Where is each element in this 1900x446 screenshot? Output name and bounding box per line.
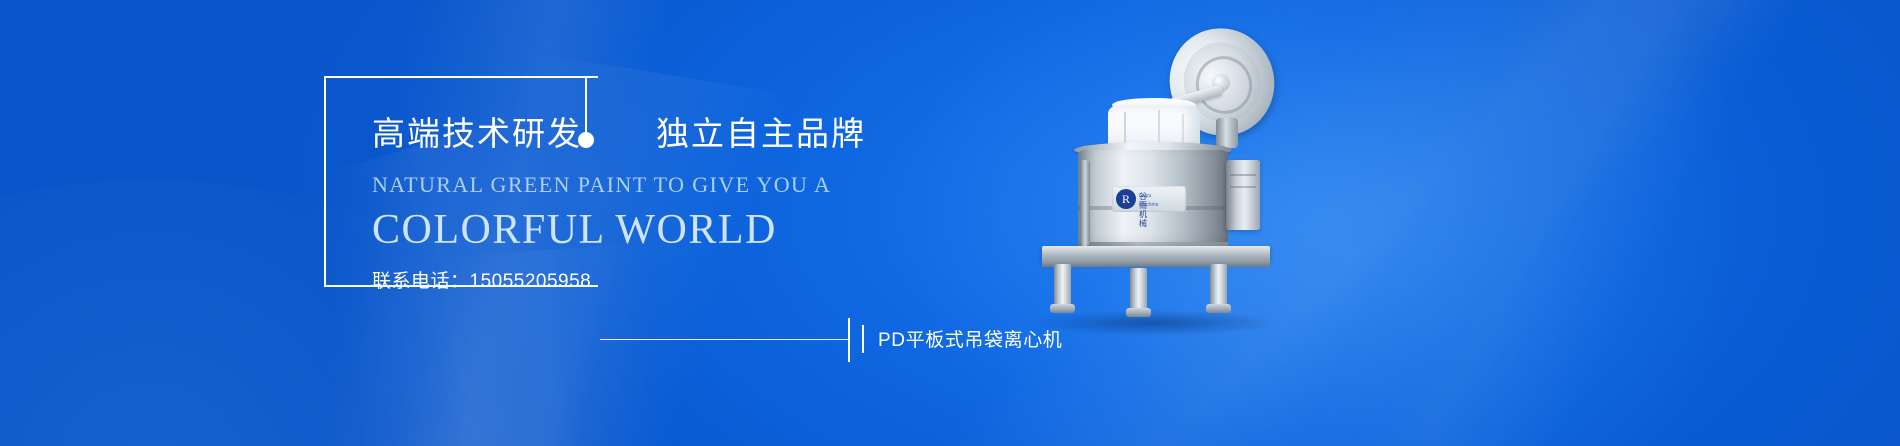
hero-banner: 高端技术研发独立自主品牌 NATURAL GREEN PAINT TO GIVE…	[0, 0, 1900, 446]
background-glow	[880, 0, 1780, 446]
subtitle-line-1: NATURAL GREEN PAINT TO GIVE YOU A	[372, 172, 892, 198]
machine-control-box	[1226, 160, 1260, 230]
machine-control-line-2	[1230, 186, 1256, 188]
caption-rule	[600, 339, 850, 340]
caption-tick-long	[848, 318, 850, 362]
contact-phone: 联系电话：15055205958	[372, 266, 892, 293]
machine-base-plate-front	[1042, 260, 1270, 267]
bracket-frame-top-arm	[324, 76, 586, 78]
machine-foot-3	[1210, 264, 1227, 308]
machine-logo-mark: R	[1116, 189, 1136, 209]
machine-control-line-1	[1230, 174, 1256, 176]
hero-text-block: 高端技术研发独立自主品牌 NATURAL GREEN PAINT TO GIVE…	[372, 112, 892, 293]
headline: 高端技术研发独立自主品牌	[372, 112, 892, 156]
caption-tick-short	[862, 325, 864, 353]
machine-shadow	[1030, 310, 1280, 336]
machine-foot-1	[1054, 264, 1071, 308]
subtitle-line-2: COLORFUL WORLD	[372, 206, 892, 254]
machine-pipe	[1080, 160, 1090, 246]
machine-hinge	[1216, 118, 1238, 148]
headline-right: 独立自主品牌	[656, 115, 866, 152]
headline-left: 高端技术研发	[372, 115, 582, 152]
product-image-centrifuge: R 谷雨机械 Guyu Machine	[1020, 10, 1300, 340]
machine-logo-subtext: Guyu Machine	[1139, 192, 1159, 210]
machine-foot-2	[1130, 268, 1147, 312]
